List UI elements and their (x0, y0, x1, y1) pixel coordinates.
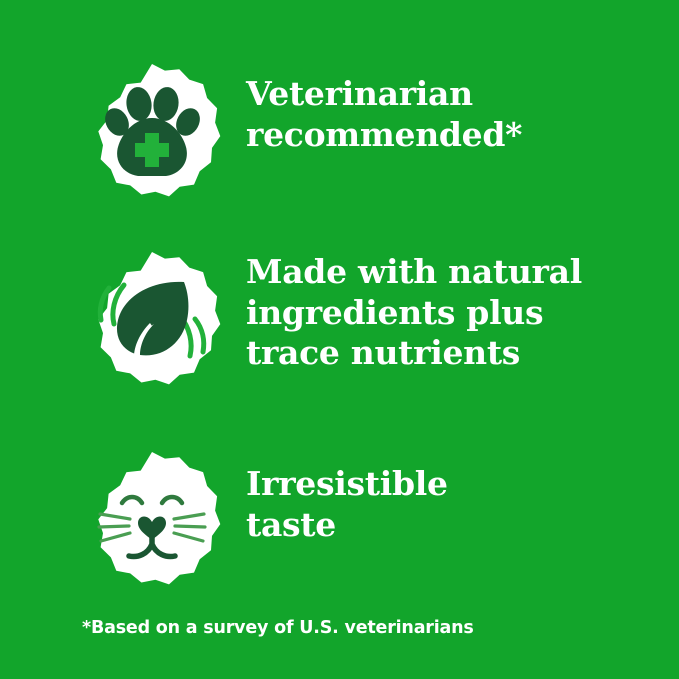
smiling-cat-face-badge-icon (72, 440, 232, 600)
feature-row-veterinarian: Veterinarian recommended* (0, 52, 679, 212)
feature-headline: Veterinarian recommended* (246, 52, 522, 155)
footnote-disclaimer: *Based on a survey of U.S. veterinarians (82, 618, 474, 639)
leaf-with-motion-lines-badge-icon (72, 240, 232, 400)
paw-with-medical-cross-badge-icon (72, 52, 232, 212)
paw-badge-svg (72, 52, 232, 212)
feature-row-irresistible-taste: Irresistible taste (0, 440, 679, 600)
leaf-badge-svg (72, 240, 232, 400)
feature-row-natural-ingredients: Made with natural ingredients plus trace… (0, 240, 679, 400)
product-benefits-poster: Veterinarian recommended* Made with natu… (0, 0, 679, 679)
feature-headline: Made with natural ingredients plus trace… (246, 240, 582, 374)
cat-face-badge-svg (72, 440, 232, 600)
feature-headline: Irresistible taste (246, 440, 448, 545)
